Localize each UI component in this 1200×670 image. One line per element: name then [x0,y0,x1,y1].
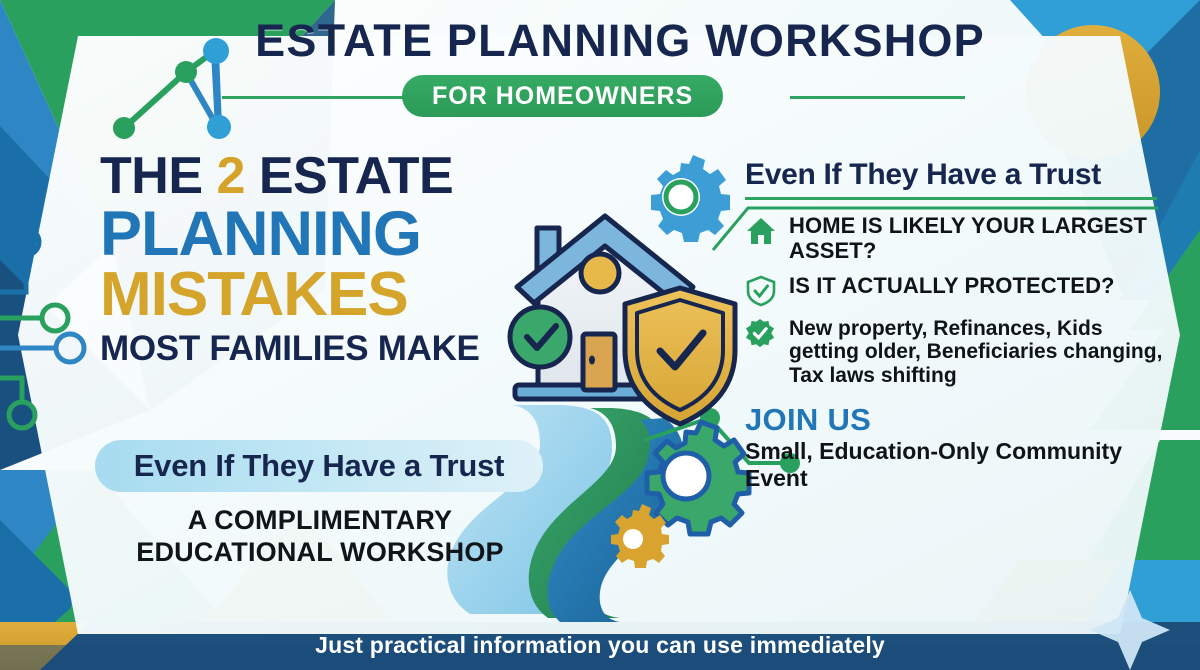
list-item-label: IS IT ACTUALLY PROTECTED? [789,274,1115,299]
headline-line-4: MOST FAMILIES MAKE [100,331,520,366]
ribbon-line-right [790,96,965,99]
list-item-label: HOME IS LIKELY YOUR LARGEST ASSET? [789,214,1175,264]
headline-block: THE 2 ESTATE PLANNING MISTAKES MOST FAMI… [100,152,520,366]
poster-canvas: ESTATE PLANNING WORKSHOP FOR HOMEOWNERS … [0,0,1200,670]
bullet-list: HOME IS LIKELY YOUR LARGEST ASSET? IS IT… [745,214,1175,388]
headline-number: 2 [216,147,244,205]
subheading-line-2: EDUCATIONAL WORKSHOP [110,537,530,569]
list-item: IS IT ACTUALLY PROTECTED? [745,274,1175,307]
gear-icon [651,155,730,242]
gear-check-icon [745,318,777,350]
right-column-rule [745,197,1157,200]
home-icon [745,215,777,247]
headline-line-2: PLANNING [100,204,520,264]
audience-badge: FOR HOMEOWNERS [402,75,723,117]
join-title: JOIN US [745,404,1175,435]
subheading-line-1: A COMPLIMENTARY [110,505,530,537]
page-title: ESTATE PLANNING WORKSHOP [0,18,1200,63]
headline-line-1-post: ESTATE [245,147,453,205]
list-item: HOME IS LIKELY YOUR LARGEST ASSET? [745,214,1175,264]
headline-line-1-pre: THE [100,147,216,205]
shield-check-icon [745,275,777,307]
right-column-title: Even If They Have a Trust [745,160,1175,190]
header-ribbon: FOR HOMEOWNERS [0,75,1200,119]
subheading-block: A COMPLIMENTARY EDUCATIONAL WORKSHOP [110,505,530,569]
gear-icon [647,422,749,534]
right-column: Even If They Have a Trust HOME IS LIKELY… [745,160,1175,492]
trust-badge-label: Even If They Have a Trust [134,448,505,484]
list-item-label: New property, Refinances, Kids getting o… [789,317,1175,388]
footer-tagline: Just practical information you can use i… [0,632,1200,659]
headline-line-1: THE 2 ESTATE [100,152,520,202]
list-item: New property, Refinances, Kids getting o… [745,317,1175,388]
join-block: JOIN US Small, Education-Only Community … [745,404,1175,492]
ribbon-line-left [222,96,422,99]
join-subtitle: Small, Education-Only Community Event [745,438,1175,492]
headline-line-3: MISTAKES [100,265,520,325]
header: ESTATE PLANNING WORKSHOP FOR HOMEOWNERS [0,18,1200,119]
trust-badge: Even If They Have a Trust [95,440,543,492]
